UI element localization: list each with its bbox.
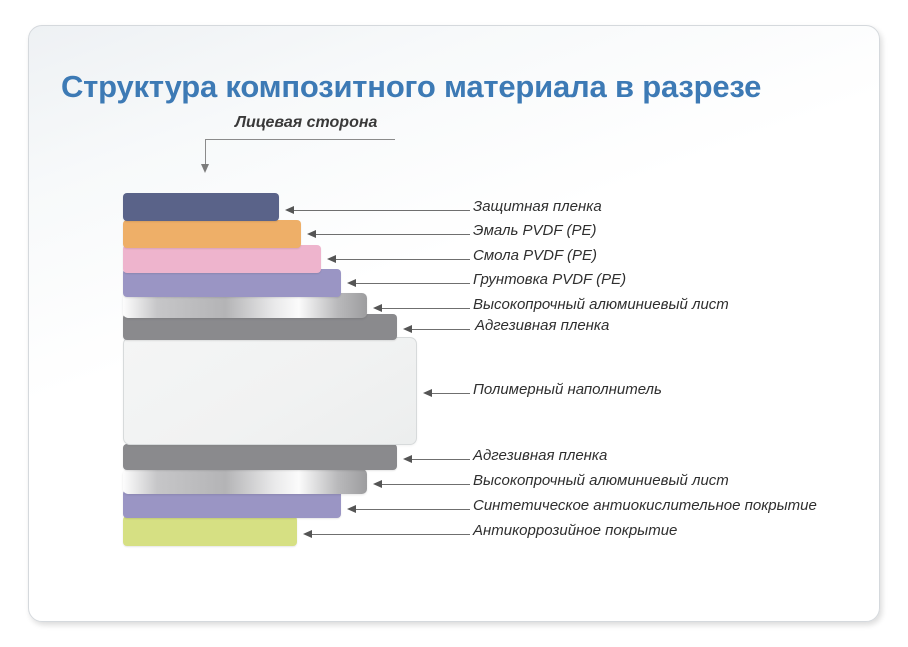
layer-label-aluminium-sheet-bottom: Высокопрочный алюминиевый лист <box>473 472 729 489</box>
layer-label-pvdf-resin: Смола PVDF (PE) <box>473 247 597 264</box>
layer-bar-pvdf-primer <box>123 269 341 297</box>
layer-bar-polymer-core <box>123 337 417 445</box>
arrow-line <box>294 210 470 211</box>
layer-bar-aluminium-sheet-bottom <box>123 469 367 494</box>
arrow-head-icon <box>347 279 356 287</box>
layer-bar-pvdf-enamel <box>123 220 301 248</box>
arrow-head-icon <box>303 530 312 538</box>
layer-label-synthetic-antioxidant-coating: Синтетическое антиокислительное покрытие <box>473 497 817 514</box>
arrow-head-icon <box>347 505 356 513</box>
layer-label-adhesive-film-bottom: Адгезивная пленка <box>473 447 607 464</box>
arrow-line <box>312 534 470 535</box>
arrow-head-icon <box>373 480 382 488</box>
slide-card: Структура композитного материала в разре… <box>28 25 880 622</box>
layer-label-anticorrosion-coating: Антикоррозийное покрытие <box>473 522 677 539</box>
layer-label-aluminium-sheet-top: Высокопрочный алюминиевый лист <box>473 296 729 313</box>
arrow-head-icon <box>285 206 294 214</box>
arrow-line <box>382 308 470 309</box>
layer-label-protective-film: Защитная пленка <box>473 198 602 215</box>
layer-bar-adhesive-film-bottom <box>123 444 397 470</box>
arrow-head-icon <box>403 455 412 463</box>
layer-bar-anticorrosion-coating <box>123 516 297 546</box>
arrow-line <box>356 283 470 284</box>
arrow-line <box>382 484 470 485</box>
arrow-head-icon <box>327 255 336 263</box>
layer-bar-synthetic-antioxidant-coating <box>123 490 341 518</box>
arrow-head-icon <box>403 325 412 333</box>
arrow-line <box>412 329 470 330</box>
layer-label-adhesive-film-top: Адгезивная пленка <box>475 317 609 334</box>
arrow-line <box>412 459 470 460</box>
arrow-head-icon <box>307 230 316 238</box>
layer-bar-protective-film <box>123 193 279 221</box>
layer-label-pvdf-primer: Грунтовка PVDF (PE) <box>473 271 626 288</box>
layer-label-pvdf-enamel: Эмаль PVDF (PE) <box>473 222 596 239</box>
arrow-line <box>356 509 470 510</box>
arrow-head-icon <box>373 304 382 312</box>
arrow-line <box>432 393 470 394</box>
arrow-head-icon <box>423 389 432 397</box>
arrow-line <box>316 234 470 235</box>
layer-bar-pvdf-resin <box>123 245 321 273</box>
layer-stack: Защитная пленкаЭмаль PVDF (PE)Смола PVDF… <box>29 26 879 621</box>
arrow-line <box>336 259 470 260</box>
layer-label-polymer-core: Полимерный наполнитель <box>473 381 662 398</box>
